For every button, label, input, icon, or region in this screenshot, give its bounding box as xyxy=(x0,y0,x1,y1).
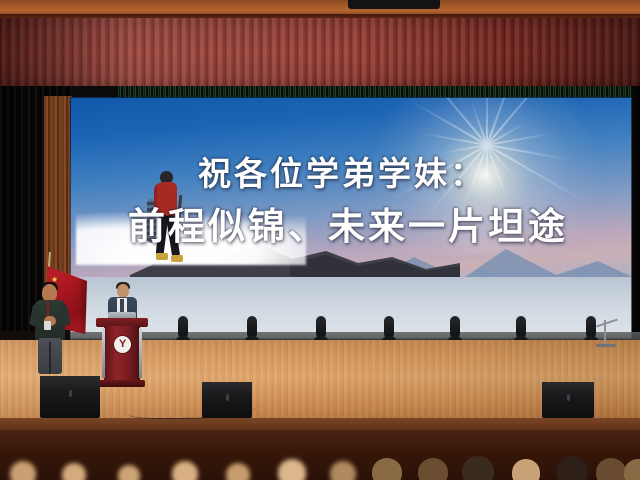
light-head xyxy=(450,316,460,337)
green-fringe-trim xyxy=(118,86,640,97)
floor-monitor-left xyxy=(40,376,100,418)
audience-member xyxy=(462,456,494,480)
ceiling-projector xyxy=(348,0,440,9)
audience-member xyxy=(512,459,540,480)
lectern: Y xyxy=(96,318,148,390)
light-head xyxy=(247,316,257,337)
floor-monitor-center xyxy=(202,382,252,418)
audience-member xyxy=(10,461,36,480)
lectern-rail-right xyxy=(139,328,142,378)
audience-member xyxy=(596,458,626,480)
light-head xyxy=(316,316,326,337)
audience-member xyxy=(372,458,402,480)
monitor-led xyxy=(69,390,72,397)
audience-member xyxy=(226,463,250,480)
mic-base xyxy=(596,344,616,347)
audience-member xyxy=(118,465,140,480)
mic-boom-arm xyxy=(596,319,618,328)
emblem-mark: Y xyxy=(119,338,126,350)
auditorium-stage-photo: 祝各位学弟学妹： 前程似锦、未来一片坦途 ★ xyxy=(0,0,640,480)
light-head xyxy=(516,316,526,337)
lectern-body xyxy=(104,326,140,380)
right-stage-curtain xyxy=(632,86,640,336)
audience-member xyxy=(172,461,198,480)
monitor-led xyxy=(226,394,229,401)
speaker-leg-split xyxy=(49,342,51,374)
light-head xyxy=(178,316,188,337)
speaker-id-badge xyxy=(44,321,51,330)
audience-member xyxy=(62,463,86,480)
top-valance-curtain xyxy=(0,18,640,90)
lectern-base xyxy=(99,380,145,387)
light-head xyxy=(384,316,394,337)
audience-seating xyxy=(0,452,640,480)
screen-bezel xyxy=(70,97,632,339)
audience-member xyxy=(556,456,588,480)
audience-member xyxy=(278,459,306,480)
presenter-tie xyxy=(120,299,124,312)
lectern-rail-left xyxy=(102,328,105,378)
audience-member xyxy=(624,459,640,480)
floor-monitor-right xyxy=(542,382,594,418)
valance-sheen xyxy=(0,18,640,90)
audience-member xyxy=(330,461,356,480)
presenter-head xyxy=(117,284,129,298)
monitor-led xyxy=(567,394,570,401)
standing-speaker xyxy=(30,284,70,374)
lectern-emblem: Y xyxy=(114,336,131,353)
audience-member xyxy=(418,458,448,480)
boom-mic-stand xyxy=(592,320,622,348)
